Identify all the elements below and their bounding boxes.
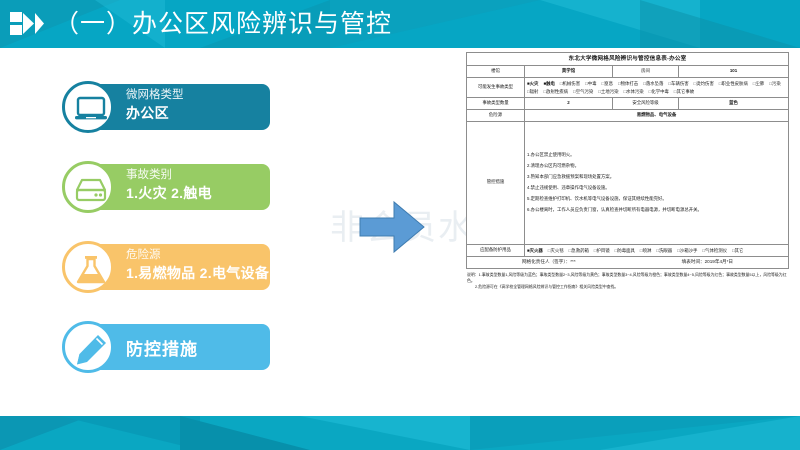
play-triangles-logo-icon [10,12,44,36]
accident-type-checkbox-3[interactable]: □中毒 [585,80,596,88]
accident-types-label: 可能发生事故类型 [467,78,525,98]
footer-poly-4 [300,416,470,450]
accident-count-label: 事故类型数量 [467,98,525,110]
accident-type-checkbox-9[interactable]: □职业性皮肤病 [719,80,748,88]
ppe-checkbox-3[interactable]: □护目镜 [594,247,610,255]
table-note-line-2: 2.危险源可在《高学校全管理网格风险辨识与管控工作指南》相关风险类型中查找。 [467,284,787,290]
signature-cell: 网格化责任人（签字）：*** 填表时间：2019年4月*日 [467,257,789,269]
flask-icon [62,241,114,293]
slide-root: （一）办公区风险辨识与管控 非会员水印 微网格类型 办公区 事故类别 1.火灾 … [0,0,800,450]
table-row-measures: 管控措施 1.办公区禁止使用明火。2.清理办公区内可燃杂物。3.熟知本部门应急救… [467,121,789,244]
table-row-hazard: 危险源 易燃物品、电气设备 [467,110,789,122]
table-row-ppe: 应配备防护用品 ■灭火器□灭火毯□急救药箱□护目镜□防毒面具□喷淋□洗眼器□沙箱… [467,244,789,257]
ppe-checkbox-0[interactable]: ■灭火器 [527,247,543,255]
table-row-accident-types: 可能发生事故类型 ■火灾■触电□机械伤害□中毒□窒息□物体打击□落水坠落□车辆伤… [467,78,789,98]
table-row-signature: 网格化责任人（签字）：*** 填表时间：2019年4月*日 [467,257,789,269]
device-icon [62,161,114,213]
signature-person: 网格化责任人（签字）：*** [522,259,576,266]
accident-type-checkbox-17[interactable]: □化学中毒 [649,88,669,96]
ppe-checklist[interactable]: ■灭火器□灭火毯□急救药箱□护目镜□防毒面具□喷淋□洗眼器□沙箱沙手□气体检测仪… [525,244,789,257]
accident-type-checkbox-2[interactable]: □机械伤害 [560,80,580,88]
card-accident-category-label: 事故类别 [126,168,264,183]
accident-type-checkbox-11[interactable]: □污染 [769,80,780,88]
accident-type-checkbox-16[interactable]: □水体污染 [623,88,643,96]
accident-type-checkbox-14[interactable]: □空气污染 [573,88,593,96]
measure-item-3: 4.禁止违规使用、违章操作电气设备设施。 [527,185,786,192]
laptop-icon [62,81,114,133]
card-hazard-source-label: 危险源 [126,248,264,263]
card-accident-category-text: 事故类别 1.火灾 2.触电 [126,168,264,203]
table-note-line-1: 说明：1.事故类型数量1,风险等级为蓝色；事故类型数量2~3,风险等级为黄色；事… [467,272,787,284]
card-microgrid-type-text: 微网格类型 办公区 [126,88,264,123]
ppe-checkbox-8[interactable]: □气体检测仪 [702,247,727,255]
slide-footer-band [0,416,800,450]
card-control-measures-text: 防控措施 [126,328,264,372]
accident-types-checklist[interactable]: ■火灾■触电□机械伤害□中毒□窒息□物体打击□落水坠落□车辆伤害□烫灼伤害□职业… [525,78,789,98]
measure-item-0: 1.办公区禁止使用明火。 [527,152,786,159]
ppe-checkbox-1[interactable]: □灭火毯 [548,247,564,255]
measure-item-1: 2.清理办公区内可燃杂物。 [527,163,786,170]
accident-type-checkbox-13[interactable]: □放射性疾病 [543,88,568,96]
ppe-checkbox-4[interactable]: □防毒面具 [615,247,635,255]
footer-poly-6 [600,416,800,450]
table-title: 东北大学微网格风险辨识与管控信息表-办公室 [467,53,789,66]
ppe-checkbox-2[interactable]: □急救药箱 [569,247,589,255]
ppe-checkbox-6[interactable]: □洗眼器 [656,247,672,255]
risk-table: 东北大学微网格风险辨识与管控信息表-办公室 楼馆 莫学馆 房间 101 可能发生… [466,52,789,269]
measure-item-2: 3.熟知本部门应急救援预案和现场处置方案。 [527,174,786,181]
accident-type-checkbox-5[interactable]: □物体打击 [618,80,638,88]
risk-level-label: 安全风险等级 [613,98,679,110]
pencil-icon [62,321,114,373]
accident-type-checkbox-12[interactable]: □辐射 [527,88,538,96]
location-room-value: 101 [679,66,789,78]
card-hazard-source-text: 危险源 1.易燃物品 2.电气设备 [126,248,264,283]
card-microgrid-type-value: 办公区 [126,103,264,123]
hazard-label: 危险源 [467,110,525,122]
footer-poly-3 [180,416,310,450]
risk-information-form: 东北大学微网格风险辨识与管控信息表-办公室 楼馆 莫学馆 房间 101 可能发生… [466,52,788,290]
accident-type-checkbox-10[interactable]: □尘肺 [753,80,764,88]
ppe-checkbox-7[interactable]: □沙箱沙手 [677,247,697,255]
measures-label: 管控措施 [467,121,525,244]
accident-count-value: 2 [525,98,613,110]
risk-level-value: 蓝色 [679,98,789,110]
accident-type-checkbox-6[interactable]: □落水坠落 [643,80,663,88]
card-accident-category-value: 1.火灾 2.触电 [126,183,264,203]
card-control-measures-title: 防控措施 [126,328,264,372]
location-room-label: 房间 [613,66,679,78]
ppe-checkbox-9[interactable]: □其它 [732,247,743,255]
accident-type-checkbox-0[interactable]: ■火灾 [527,80,538,88]
table-row-counts: 事故类型数量 2 安全风险等级 蓝色 [467,98,789,110]
table-row-title: 东北大学微网格风险辨识与管控信息表-办公室 [467,53,789,66]
measure-item-5: 6.办公楼离时，工作人员应负责门窗，认真检查并切断所有电器电源，并切断电源总开关… [527,207,786,214]
ppe-checkbox-5[interactable]: □喷淋 [640,247,651,255]
signature-date: 填表时间：2019年4月*日 [682,259,733,266]
right-arrow-icon [358,198,426,256]
card-microgrid-type-label: 微网格类型 [126,88,264,103]
hazard-value: 易燃物品、电气设备 [525,110,789,122]
measures-list: 1.办公区禁止使用明火。2.清理办公区内可燃杂物。3.熟知本部门应急救援预案和现… [525,121,789,244]
accident-type-checkbox-18[interactable]: □其它事故 [674,88,694,96]
accident-type-checkbox-8[interactable]: □烫灼伤害 [694,80,714,88]
accident-type-checkbox-15[interactable]: □土地污染 [598,88,618,96]
table-notes: 说明：1.事故类型数量1,风险等级为蓝色；事故类型数量2~3,风险等级为黄色；事… [466,272,788,290]
location-building-label: 楼馆 [467,66,525,78]
accident-type-checkbox-7[interactable]: □车辆伤害 [668,80,688,88]
page-title: （一）办公区风险辨识与管控 [54,7,392,41]
table-row-location: 楼馆 莫学馆 房间 101 [467,66,789,78]
footer-poly-2 [60,416,200,450]
card-hazard-source-value: 1.易燃物品 2.电气设备 [126,263,264,283]
header-poly-5 [640,0,800,48]
slide-header-band: （一）办公区风险辨识与管控 [0,0,800,48]
accident-type-checkbox-4[interactable]: □窒息 [602,80,613,88]
location-building-value: 莫学馆 [525,66,613,78]
accident-type-checkbox-1[interactable]: ■触电 [543,80,554,88]
ppe-label: 应配备防护用品 [467,244,525,257]
measure-item-4: 5.定期检查维护打印机、饮水机等电气设备设施，保证其继续性能完好。 [527,196,786,203]
